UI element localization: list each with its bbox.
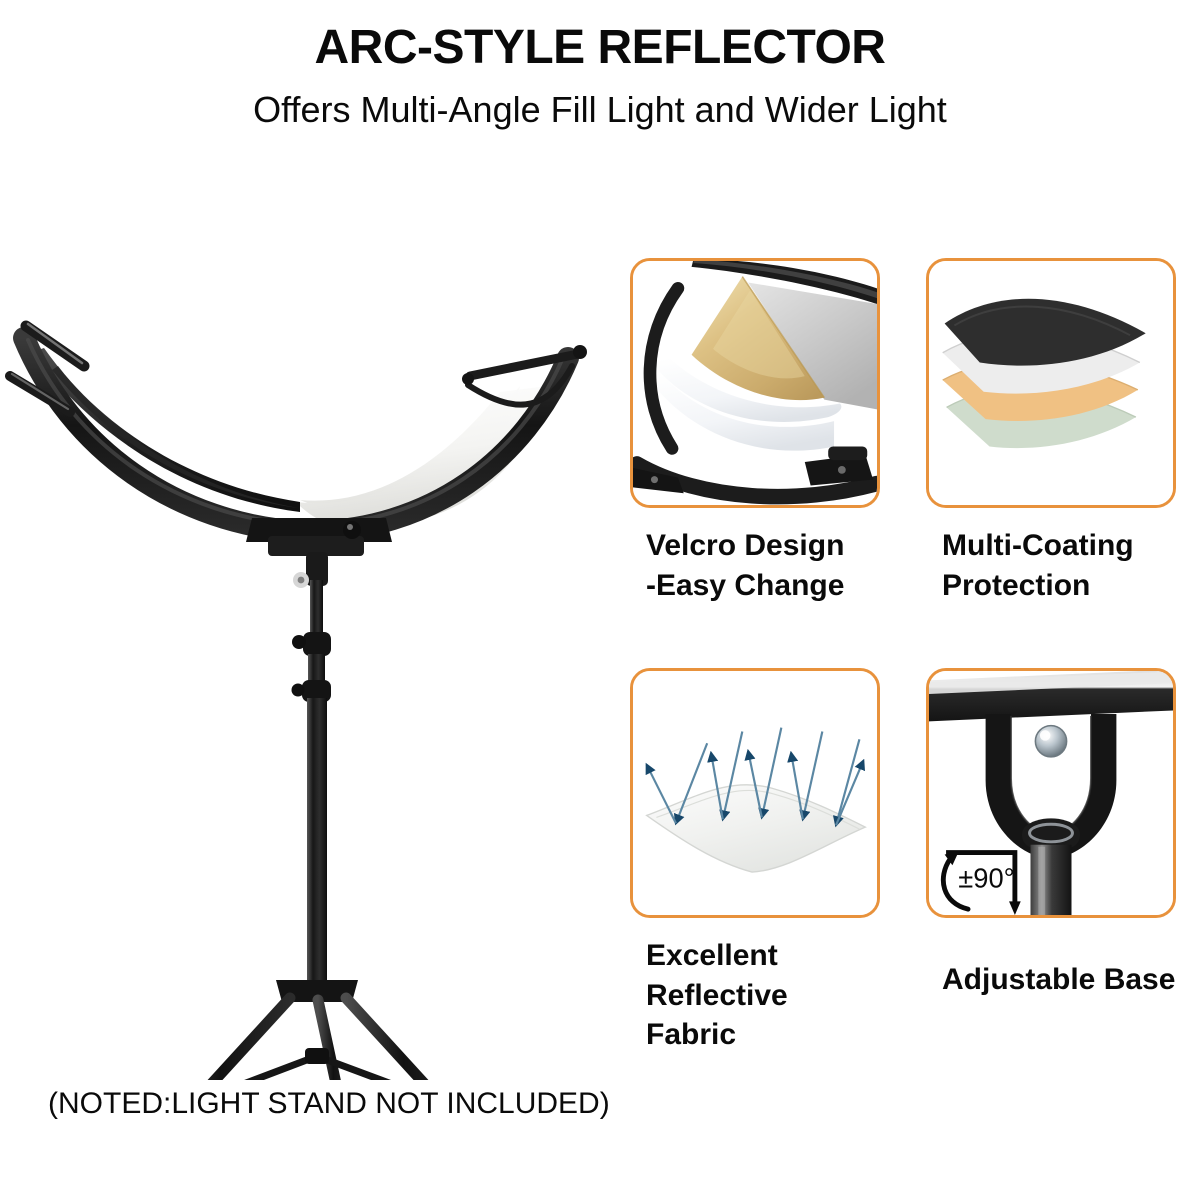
feature-card-reflective-fabric[interactable] [630,668,880,918]
stand-brace-hub [305,1048,329,1064]
feature-caption-cell-reflective-fabric: Excellent Reflective Fabric [630,918,880,1068]
base-stand-tube [1031,845,1072,915]
feature-label-adjustable-base: Adjustable Base [926,918,1176,1000]
feature-cell-adjustable-base: ±90° [926,668,1176,918]
feature-caption-cell-velcro-design: Velcro Design -Easy Change [630,508,880,668]
adjustable-base-image: ±90° [929,671,1173,915]
feature-card-adjustable-base[interactable]: ±90° [926,668,1176,918]
reflector-arc [10,324,587,556]
stand-tilt-knob-center [298,577,305,584]
stand-leg-right [346,998,474,1080]
header: ARC-STYLE REFLECTOR Offers Multi-Angle F… [0,0,1200,128]
velcro-hinge-screw-left [651,476,658,483]
velcro-clamp-screw [838,466,846,474]
angle-label: ±90° [958,863,1014,894]
reflector-mount-knob-gloss [347,524,353,530]
feature-card-velcro-design[interactable] [630,258,880,508]
base-stand-tube-highlight [1038,847,1045,915]
feature-caption-cell-multi-coating: Multi-Coating Protection [926,508,1176,668]
feature-label-reflective-fabric: Excellent Reflective Fabric [630,918,880,1055]
product-image-stage [0,180,620,1080]
feature-label-velcro-design: Velcro Design -Easy Change [630,508,880,605]
reflector-rod-cap-mid [462,373,474,385]
reflector-rod-cap-right [573,345,587,359]
product-photo [0,180,620,1080]
stand-lock-knob-upper [292,635,306,649]
page-title: ARC-STYLE REFLECTOR [0,0,1200,72]
base-pivot-screw-gloss [1040,730,1051,741]
feature-card-multi-coating[interactable] [926,258,1176,508]
feature-caption-cell-adjustable-base: Adjustable Base [926,918,1176,1068]
feature-label-multi-coating: Multi-Coating Protection [926,508,1176,605]
velcro-design-image [633,261,877,505]
stand-collar-upper [303,632,331,656]
light-stand [155,552,481,1080]
stand-leg-left [162,998,290,1080]
feature-grid: Velcro Design -Easy Change Multi-Coating… [630,258,1186,1068]
disclaimer-text: (NOTED:LIGHT STAND NOT INCLUDED) [48,1087,610,1121]
multi-coating-image [929,261,1173,505]
stand-main-column [307,698,327,988]
reflective-fabric-image [633,671,877,915]
feature-cell-velcro-design [630,258,880,508]
arc-reflector-illustration [0,180,620,1080]
velcro-clamp-lever [828,446,867,460]
stand-riser-upper [310,580,323,638]
page-subtitle: Offers Multi-Angle Fill Light and Wider … [0,72,1200,128]
reflector-mount-knob [343,521,361,539]
feature-cell-multi-coating [926,258,1176,508]
feature-cell-reflective-fabric [630,668,880,918]
stand-lock-knob-lower [292,684,305,697]
